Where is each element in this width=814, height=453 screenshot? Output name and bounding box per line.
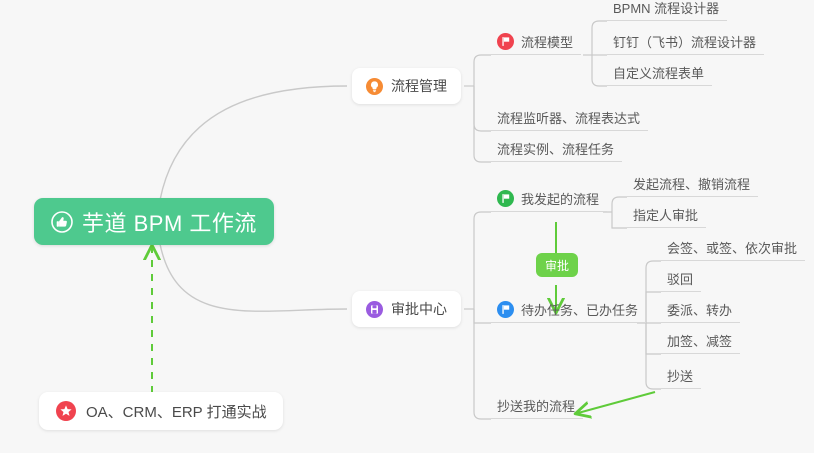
- note-card-integration[interactable]: OA、CRM、ERP 打通实战: [39, 392, 283, 430]
- node-add-remove-sign-label: 加签、减签: [667, 331, 732, 350]
- node-process-instance[interactable]: 流程实例、流程任务: [491, 136, 622, 162]
- node-custom-form-label: 自定义流程表单: [613, 63, 704, 82]
- link-root-to-approval-center: [160, 244, 347, 311]
- flag-icon: [497, 33, 514, 50]
- link-ac-to-todo: [474, 309, 491, 323]
- star-icon: [55, 400, 77, 422]
- node-launch-cancel-process-label: 发起流程、撤销流程: [633, 174, 750, 193]
- link-todo-to-cc: [646, 323, 661, 389]
- approval-flow-badge-label: 审批: [545, 257, 569, 274]
- flag-icon: [497, 190, 514, 207]
- link-model-to-bpmn: [592, 21, 607, 55]
- link-started-to-assignee: [612, 212, 627, 228]
- node-process-listener-label: 流程监听器、流程表达式: [497, 108, 640, 127]
- node-reject[interactable]: 驳回: [661, 266, 701, 292]
- link-ac-to-started: [474, 212, 491, 309]
- lightbulb-icon: [366, 78, 383, 95]
- link-pm-to-model: [474, 55, 491, 86]
- node-process-model[interactable]: 流程模型: [491, 29, 581, 55]
- node-bpmn-designer[interactable]: BPMN 流程设计器: [607, 0, 727, 21]
- flag-icon: [497, 301, 514, 318]
- link-ac-to-cc: [474, 309, 491, 419]
- node-delegate-transfer-label: 委派、转办: [667, 300, 732, 319]
- node-cc-my-process-label: 抄送我的流程: [497, 396, 575, 415]
- link-root-to-process-management: [160, 86, 347, 200]
- node-countersign-approval[interactable]: 会签、或签、依次审批: [661, 235, 805, 261]
- node-assignee-approval[interactable]: 指定人审批: [627, 202, 706, 228]
- node-process-listener[interactable]: 流程监听器、流程表达式: [491, 105, 648, 131]
- node-countersign-approval-label: 会签、或签、依次审批: [667, 238, 797, 257]
- root-node[interactable]: 芋道 BPM 工作流: [34, 198, 274, 245]
- link-todo-to-countersign: [646, 261, 661, 323]
- node-add-remove-sign[interactable]: 加签、减签: [661, 328, 740, 354]
- approval-flow-badge[interactable]: 审批: [536, 253, 578, 277]
- mindmap-canvas: 芋道 BPM 工作流 流程管理 审批中心: [0, 0, 814, 453]
- link-started-to-launch: [612, 197, 627, 212]
- thumbs-up-icon: [51, 211, 73, 233]
- arrow-cc-to-ccmyprocess: [578, 392, 655, 413]
- note-card-label: OA、CRM、ERP 打通实战: [86, 401, 267, 422]
- node-approval-center[interactable]: 审批中心: [352, 291, 461, 327]
- node-dingtalk-designer-label: 钉钉（飞书）流程设计器: [613, 32, 756, 51]
- link-todo-to-reject: [646, 292, 661, 323]
- node-process-model-label: 流程模型: [521, 32, 573, 51]
- node-process-management-label: 流程管理: [391, 76, 447, 96]
- node-launch-cancel-process[interactable]: 发起流程、撤销流程: [627, 171, 758, 197]
- node-my-started-process-label: 我发起的流程: [521, 189, 599, 208]
- root-label: 芋道 BPM 工作流: [82, 206, 257, 238]
- node-reject-label: 驳回: [667, 269, 693, 288]
- node-cc[interactable]: 抄送: [661, 363, 701, 389]
- node-todo-done-task-label: 待办任务、已办任务: [521, 300, 638, 319]
- node-cc-my-process[interactable]: 抄送我的流程: [491, 393, 583, 419]
- node-process-management[interactable]: 流程管理: [352, 68, 461, 104]
- document-icon: [366, 301, 383, 318]
- node-bpmn-designer-label: BPMN 流程设计器: [613, 0, 719, 17]
- node-custom-form[interactable]: 自定义流程表单: [607, 60, 712, 86]
- node-process-instance-label: 流程实例、流程任务: [497, 139, 614, 158]
- link-todo-to-addsign: [646, 323, 661, 354]
- node-my-started-process[interactable]: 我发起的流程: [491, 186, 607, 212]
- link-model-to-customform: [592, 55, 607, 86]
- node-delegate-transfer[interactable]: 委派、转办: [661, 297, 740, 323]
- node-dingtalk-designer[interactable]: 钉钉（飞书）流程设计器: [607, 29, 764, 55]
- node-todo-done-task[interactable]: 待办任务、已办任务: [491, 297, 646, 323]
- node-approval-center-label: 审批中心: [391, 299, 447, 319]
- link-pm-to-instance: [474, 86, 491, 162]
- node-cc-label: 抄送: [667, 366, 693, 385]
- node-assignee-approval-label: 指定人审批: [633, 205, 698, 224]
- link-pm-to-listener: [474, 86, 491, 131]
